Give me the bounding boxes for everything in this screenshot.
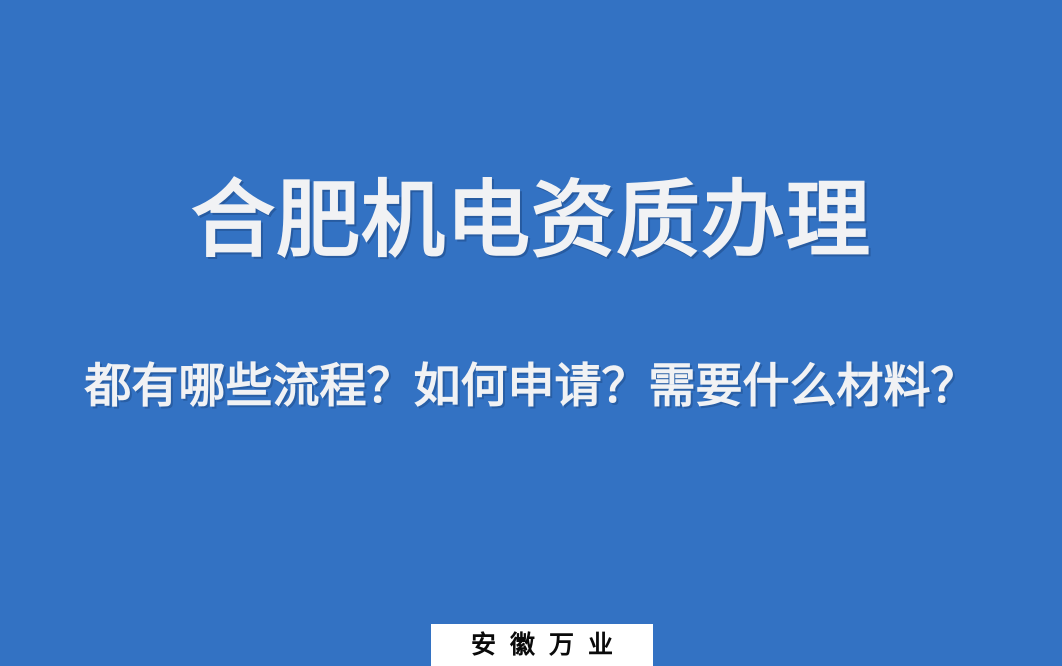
brand-name-label: 安徽万业	[457, 629, 627, 661]
poster-canvas: 合肥机电资质办理 都有哪些流程？如何申请？需要什么材料？ 安徽万业	[0, 0, 1062, 666]
page-title: 合肥机电资质办理	[0, 168, 1062, 272]
brand-plate: 安徽万业	[431, 624, 653, 666]
headline-group: 合肥机电资质办理 都有哪些流程？如何申请？需要什么材料？	[0, 0, 1062, 666]
page-subtitle: 都有哪些流程？如何申请？需要什么材料？	[0, 355, 1062, 419]
